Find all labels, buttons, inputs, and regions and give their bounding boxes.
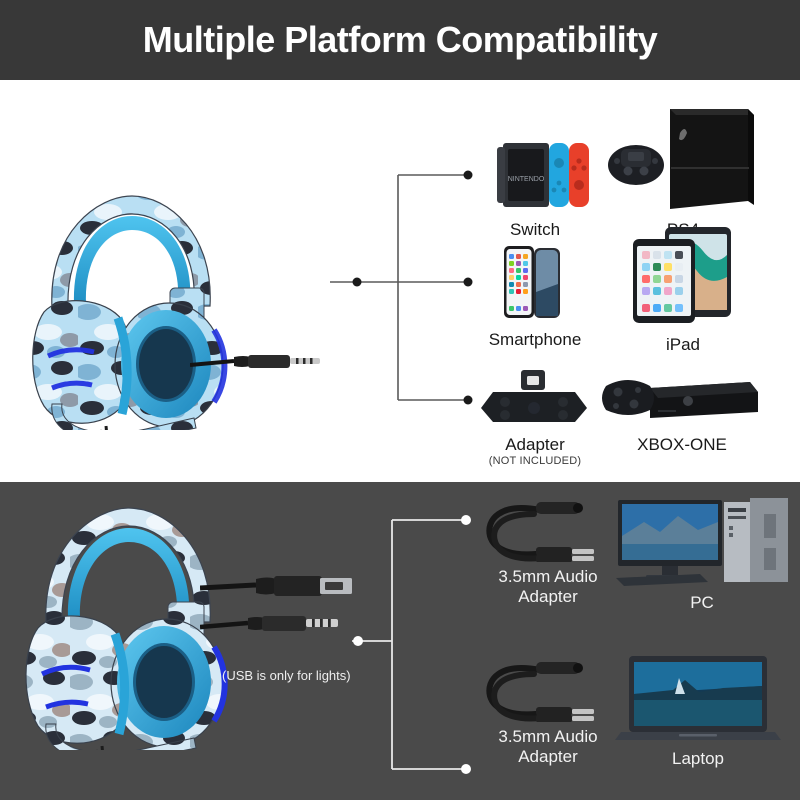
splitter-plug-shaft-a <box>572 549 594 554</box>
splitter-plug-shaft-b <box>572 556 594 561</box>
pc-tower-front <box>724 502 750 582</box>
header-bar: Multiple Platform Compatibility <box>0 0 800 80</box>
usb-note-text: (USB is only for lights) <box>222 668 351 683</box>
joycon-right-stick <box>574 180 584 190</box>
splitter-socket-hole <box>573 503 583 513</box>
bottom-compatibility-section: (USB is only for lights) <box>0 482 800 800</box>
headset-illustration <box>18 180 233 430</box>
plug-ring-2 <box>303 358 306 364</box>
desktop-computer-icon <box>612 496 792 588</box>
joycon-right-btn-a <box>581 165 586 170</box>
jack-plug-illustration-bottom <box>200 610 370 638</box>
audio-splitter-cable-icon <box>478 492 618 562</box>
laptop-wallpaper-water <box>634 700 762 726</box>
laptop-computer-icon <box>613 654 783 744</box>
jack-plug-illustration <box>190 348 360 376</box>
xbox-disc-slot <box>658 410 676 412</box>
xbox-face-buttons <box>635 387 641 393</box>
adapter-port <box>527 376 539 385</box>
headset-cable-stub <box>100 426 106 430</box>
joycon-left-dpad-left <box>552 188 557 193</box>
xbox-audio-adapter-icon <box>479 368 591 430</box>
device-label: 3.5mm Audio Adapter <box>468 567 628 608</box>
right-earcup-driver <box>139 329 193 399</box>
splitter-plug-shaft-a <box>572 709 594 714</box>
page-title: Multiple Platform Compatibility <box>143 19 658 61</box>
splitter-plug-body-b <box>536 714 572 722</box>
plug-body <box>248 355 290 368</box>
headset-product-image-top <box>18 180 233 430</box>
joycon-right-btn-y <box>571 165 576 170</box>
device-audio-adapter-upper: 3.5mm Audio Adapter <box>468 492 628 608</box>
ps4-touchpad <box>628 152 644 161</box>
pc-usb-port <box>729 526 733 530</box>
nintendo-switch-icon: NINTENDO <box>475 135 595 215</box>
usb-body <box>274 576 322 596</box>
usb-strain-relief <box>256 578 276 595</box>
ps4-left-stick <box>624 167 633 176</box>
smartphone-icon <box>480 240 590 325</box>
plug-ring-1 <box>296 358 299 364</box>
laptop-trackpad <box>679 734 717 737</box>
xbox-controller-body <box>602 380 654 415</box>
audio-splitter-cable-icon <box>478 652 618 722</box>
switch-dock-base <box>497 147 505 203</box>
xbox-dpad <box>613 403 619 409</box>
device-pc: PC <box>612 496 792 613</box>
ps4-console-body <box>670 109 748 209</box>
right-earcup-driver-bottom <box>136 646 192 718</box>
device-label: PC <box>690 593 714 613</box>
jack-plug-bottom <box>200 610 370 638</box>
ipad-tablet-icon <box>621 225 746 330</box>
switch-logo-text: NINTENDO <box>508 176 545 183</box>
device-laptop: Laptop <box>608 654 788 769</box>
ps4-face-buttons <box>652 158 658 164</box>
device-label: Laptop <box>672 749 724 769</box>
joycon-right-red <box>569 143 589 207</box>
usb-cable <box>200 585 256 588</box>
device-label: 3.5mm Audio Adapter <box>468 727 628 768</box>
switch-display <box>508 149 544 201</box>
pc-optical-drive <box>728 508 746 512</box>
plug-ring-3 <box>310 358 313 364</box>
device-smartphone: Smartphone <box>470 240 600 350</box>
pc-audio-port <box>729 533 733 537</box>
device-label: Smartphone <box>489 330 582 350</box>
usb-plug-bottom <box>200 568 375 604</box>
pc-drive-bay <box>728 516 746 519</box>
usb-plug-illustration <box>200 568 375 604</box>
tree-node-source <box>353 278 362 287</box>
plug-ring-3-bottom <box>328 619 331 627</box>
infographic-page: Multiple Platform Compatibility <box>0 0 800 800</box>
ps4-console-side <box>748 109 754 205</box>
headset-jack-plug-top <box>190 348 360 376</box>
device-audio-adapter-lower: 3.5mm Audio Adapter <box>468 652 628 768</box>
adapter-volume-up-button <box>558 397 568 407</box>
plug-body-bottom <box>262 616 306 631</box>
xbox-logo <box>683 396 693 406</box>
playstation-4-pro-icon <box>608 105 758 215</box>
usb-contact-slot <box>325 582 343 590</box>
joycon-left-dpad-right <box>562 188 567 193</box>
plug-ring-2-bottom <box>320 619 323 627</box>
adapter-mic-button <box>500 410 510 420</box>
splitter-plug-shaft-b <box>572 716 594 721</box>
pc-vent-lower <box>764 548 776 570</box>
audio-cable <box>190 361 234 365</box>
cable-strain-relief-bottom <box>248 617 264 630</box>
ps4-dpad <box>614 158 620 164</box>
monitor-wallpaper-water <box>622 544 718 560</box>
joycon-right-btn-x <box>576 158 581 163</box>
joycon-left-dpad-up <box>557 181 562 186</box>
joycon-left-blue <box>549 143 569 207</box>
device-label: iPad <box>666 335 700 355</box>
xbox-one-console-icon <box>602 368 762 430</box>
joycon-left-stick <box>554 158 564 168</box>
adapter-volume-down-button <box>558 410 568 420</box>
device-switch: NINTENDO Switch <box>470 135 600 240</box>
top-compatibility-section: NINTENDO Switch <box>0 80 800 482</box>
plug-ring-1-bottom <box>312 619 315 627</box>
ps4-seam <box>671 167 749 169</box>
device-adapter: Adapter (NOT INCLUDED) <box>470 368 600 467</box>
ps4-right-stick <box>640 167 649 176</box>
splitter-socket-hole <box>573 663 583 673</box>
device-label: Switch <box>510 220 560 240</box>
device-label: XBOX-ONE <box>637 435 727 455</box>
device-ipad: iPad <box>608 225 758 355</box>
adapter-center-dial <box>528 402 540 414</box>
monitor-stand-neck <box>662 566 678 575</box>
xbox-right-stick <box>630 400 639 409</box>
audio-cable-bottom <box>200 623 248 627</box>
ps4-console-top <box>670 109 754 115</box>
device-ps4: PS4 <box>608 105 758 240</box>
splitter-plug-body-b <box>536 554 572 562</box>
xbox-left-stick <box>614 388 623 397</box>
device-sublabel-not-included: (NOT INCLUDED) <box>489 455 581 467</box>
device-xbox-one: XBOX-ONE <box>602 368 762 455</box>
pc-vent-upper <box>764 514 776 538</box>
cable-strain-relief <box>234 356 250 367</box>
headset-cable-stub-bottom <box>96 746 102 750</box>
device-label: Adapter <box>505 435 565 455</box>
adapter-headphone-button <box>500 397 510 407</box>
